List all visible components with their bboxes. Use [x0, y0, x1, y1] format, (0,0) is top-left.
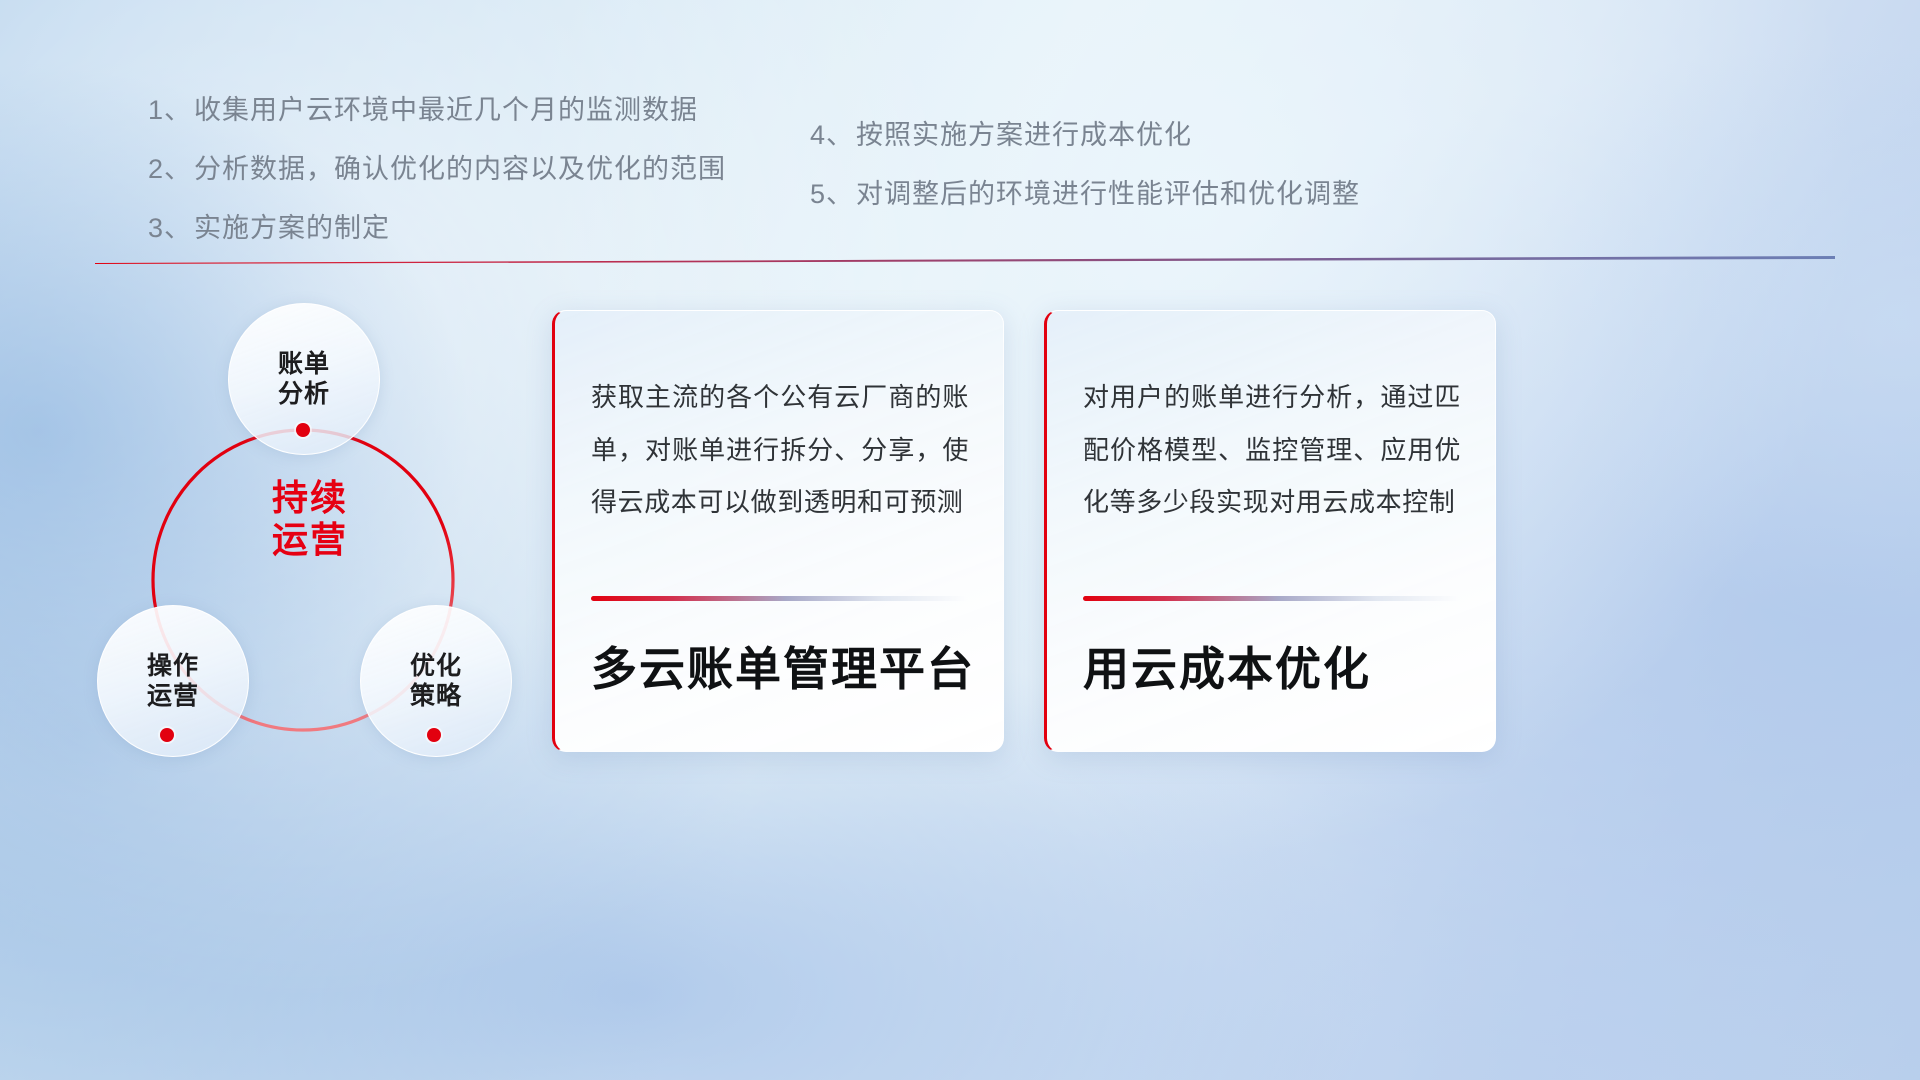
step-text: 分析数据，确认优化的内容以及优化的范围 [194, 154, 726, 184]
step-number: 3、 [148, 213, 192, 243]
venn-intersection-dot-top [296, 423, 310, 437]
venn-center-label-line1: 持续 [60, 477, 560, 519]
venn-node-label-line1: 操作 [147, 651, 199, 682]
step-text: 按照实施方案进行成本优化 [856, 120, 1192, 150]
step-item-3: 3、实施方案的制定 [148, 215, 726, 242]
steps-left-column: 1、收集用户云环境中最近几个月的监测数据 2、分析数据，确认优化的内容以及优化的… [148, 97, 726, 274]
continuous-operations-venn-diagram: 账单 分析 操作 运营 优化 策略 持续 运营 [60, 280, 560, 780]
card-multicloud-billing-platform[interactable]: 获取主流的各个公有云厂商的账单，对账单进行拆分、分享，使得云成本可以做到透明和可… [552, 310, 1004, 752]
step-number: 4、 [810, 120, 854, 150]
venn-node-label-line1: 账单 [278, 349, 330, 380]
step-item-2: 2、分析数据，确认优化的内容以及优化的范围 [148, 156, 726, 183]
card-accent-rule [591, 596, 967, 601]
venn-node-label-line1: 优化 [410, 651, 462, 682]
card-cloud-cost-optimization[interactable]: 对用户的账单进行分析，通过匹配价格模型、监控管理、应用优化等多少段实现对用云成本… [1044, 310, 1496, 752]
steps-right-column: 4、按照实施方案进行成本优化 5、对调整后的环境进行性能评估和优化调整 [810, 122, 1360, 240]
step-text: 对调整后的环境进行性能评估和优化调整 [856, 179, 1360, 209]
card-body-text: 对用户的账单进行分析，通过匹配价格模型、监控管理、应用优化等多少段实现对用云成本… [1083, 371, 1461, 529]
venn-intersection-dot-bottom-left [160, 728, 174, 742]
step-text: 实施方案的制定 [194, 213, 390, 243]
step-number: 2、 [148, 154, 192, 184]
step-number: 5、 [810, 179, 854, 209]
venn-node-label-line2: 运营 [147, 681, 199, 712]
step-number: 1、 [148, 95, 192, 125]
section-divider [95, 256, 1835, 264]
card-title: 用云成本优化 [1083, 633, 1371, 699]
card-accent-rule [1083, 596, 1459, 601]
venn-center-label-line2: 运营 [60, 519, 560, 561]
venn-intersection-dot-bottom-right [427, 728, 441, 742]
venn-node-label-line2: 策略 [410, 681, 462, 712]
step-text: 收集用户云环境中最近几个月的监测数据 [194, 95, 698, 125]
venn-node-label-line2: 分析 [278, 379, 330, 410]
card-body-text: 获取主流的各个公有云厂商的账单，对账单进行拆分、分享，使得云成本可以做到透明和可… [591, 371, 969, 529]
card-title: 多云账单管理平台 [591, 633, 975, 699]
step-item-4: 4、按照实施方案进行成本优化 [810, 122, 1360, 149]
step-item-1: 1、收集用户云环境中最近几个月的监测数据 [148, 97, 726, 124]
venn-center-label: 持续 运营 [60, 477, 560, 562]
step-item-5: 5、对调整后的环境进行性能评估和优化调整 [810, 181, 1360, 208]
